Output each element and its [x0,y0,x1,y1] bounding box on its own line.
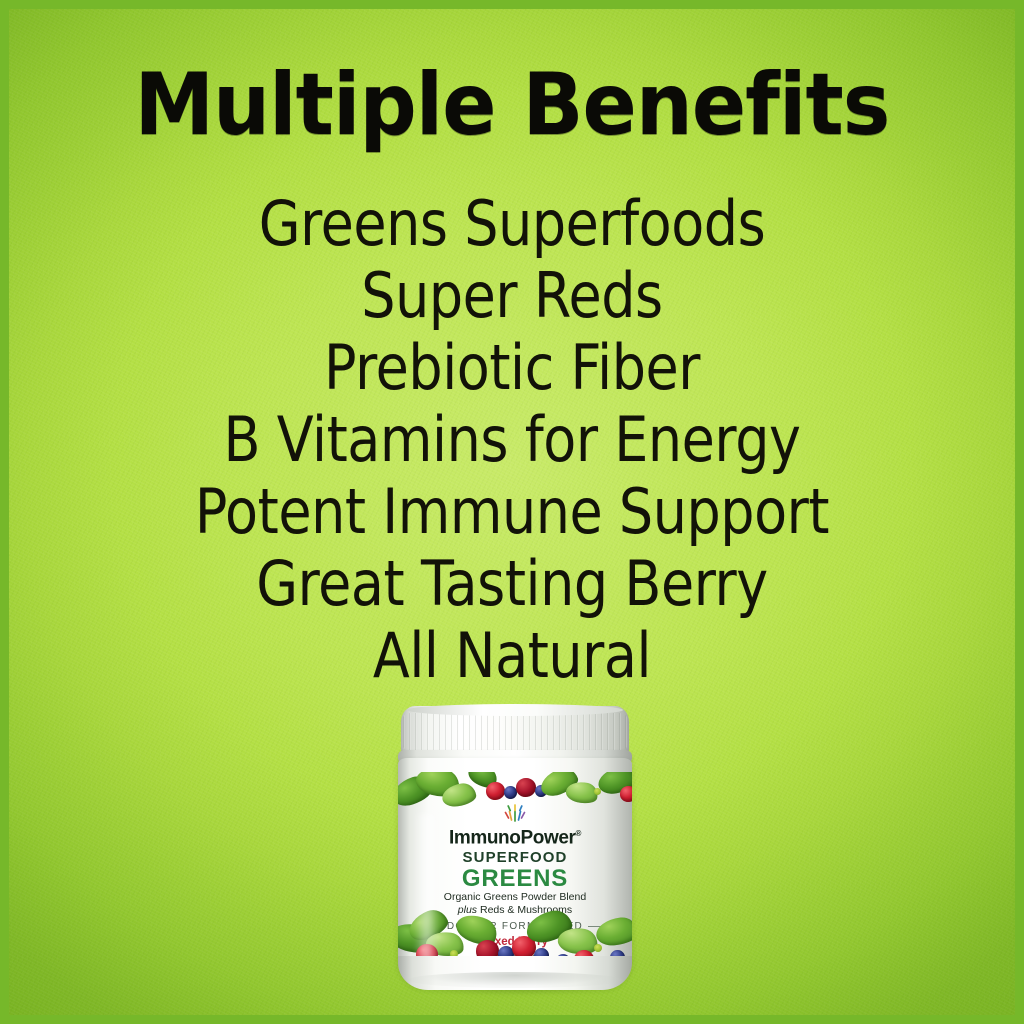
product-line-superfood: SUPERFOOD [398,849,632,866]
list-item: Great Tasting Berry [67,548,958,620]
strawberry-graphic [516,778,536,797]
tagline-primary: Organic Greens Powder Blend [398,891,632,904]
jar-base-shading [408,972,622,988]
benefits-list: Greens Superfoods Super Reds Prebiotic F… [0,188,1024,692]
product-benefits-graphic: Multiple Benefits Greens Superfoods Supe… [0,0,1024,1024]
list-item: Potent Immune Support [67,476,958,548]
product-container: ImmunoPower® SUPERFOOD GREENS Organic Gr… [396,706,634,990]
raspberry-graphic [620,786,632,802]
page-title: Multiple Benefits [36,57,988,153]
jar-body-label: ImmunoPower® SUPERFOOD GREENS Organic Gr… [398,758,632,986]
sprig-graphic [594,944,602,952]
registered-trademark: ® [576,829,582,838]
leaf-graphic [595,916,632,947]
brand-name: ImmunoPower® [398,823,632,848]
list-item: B Vitamins for Energy [67,404,958,476]
product-line-greens: GREENS [398,866,632,891]
brand-name-text: ImmunoPower [449,827,576,848]
raspberry-graphic [486,782,505,800]
list-item: Greens Superfoods [67,188,958,260]
list-item: Super Reds [67,260,958,332]
sunburst-icon [504,804,526,822]
jar-lid-ribbing [401,713,629,751]
list-item: All Natural [67,620,958,692]
list-item: Prebiotic Fiber [67,332,958,404]
jar-lid-top-ellipse [407,704,623,716]
